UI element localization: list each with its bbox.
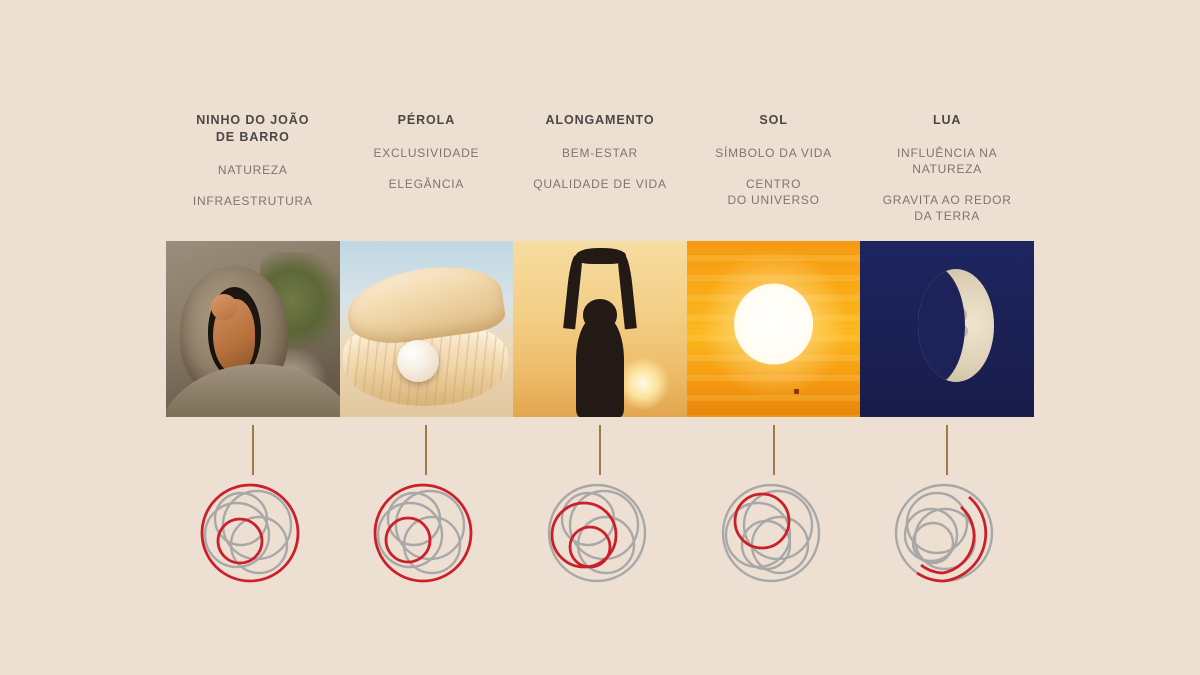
column-attribute: SÍMBOLO DA VIDA	[691, 145, 857, 161]
column-title: PÉROLA	[344, 112, 510, 129]
connector-line	[425, 425, 427, 475]
column-title: ALONGAMENTO	[517, 112, 683, 129]
logo-mark-sol	[714, 477, 834, 595]
concept-board: NINHO DO JOÃO DE BARRO NATUREZA INFRAEST…	[166, 0, 1034, 675]
column-attribute: BEM-ESTAR	[517, 145, 683, 161]
column-attribute: NATUREZA	[170, 162, 336, 178]
column-attribute: EXCLUSIVIDADE	[344, 145, 510, 161]
connector-cell	[860, 425, 1034, 477]
concept-column-alongamento: ALONGAMENTO BEM-ESTAR QUALIDADE DE VIDA	[513, 112, 687, 237]
logo-cell-alongamento	[513, 477, 687, 597]
bird-nest-image	[166, 241, 340, 417]
concept-column-lua: LUA INFLUÊNCIA NA NATUREZA GRAVITA AO RE…	[860, 112, 1034, 237]
logo-cell-ninho	[166, 477, 340, 597]
connector-cell	[513, 425, 687, 477]
concept-column-perola: PÉROLA EXCLUSIVIDADE ELEGÂNCIA	[340, 112, 514, 237]
connector-cell	[687, 425, 861, 477]
column-attribute: QUALIDADE DE VIDA	[517, 176, 683, 192]
logo-mark-alongamento	[540, 477, 660, 595]
column-attribute: GRAVITA AO REDOR DA TERRA	[864, 192, 1030, 224]
column-attribute: CENTRO DO UNIVERSO	[691, 176, 857, 208]
logo-cell-perola	[340, 477, 514, 597]
stretching-silhouette-image	[513, 241, 687, 417]
connector-line	[599, 425, 601, 475]
column-attribute: INFRAESTRUTURA	[170, 193, 336, 209]
connector-cell	[340, 425, 514, 477]
concept-column-ninho: NINHO DO JOÃO DE BARRO NATUREZA INFRAEST…	[166, 112, 340, 237]
column-title: NINHO DO JOÃO DE BARRO	[170, 112, 336, 146]
column-attribute: ELEGÂNCIA	[344, 176, 510, 192]
crescent-moon-image	[860, 241, 1034, 417]
column-title: SOL	[691, 112, 857, 129]
connector-cell	[166, 425, 340, 477]
concept-text-row: NINHO DO JOÃO DE BARRO NATUREZA INFRAEST…	[166, 112, 1034, 237]
column-title: LUA	[864, 112, 1030, 129]
connector-line	[946, 425, 948, 475]
logo-mark-row	[166, 477, 1034, 597]
concept-column-sol: SOL SÍMBOLO DA VIDA CENTRO DO UNIVERSO	[687, 112, 861, 237]
connector-line	[773, 425, 775, 475]
logo-cell-sol	[687, 477, 861, 597]
logo-cell-lua	[860, 477, 1034, 597]
connector-line	[252, 425, 254, 475]
logo-mark-perola	[366, 477, 486, 595]
connector-row	[166, 425, 1034, 477]
column-attribute: INFLUÊNCIA NA NATUREZA	[864, 145, 1030, 177]
concept-image-strip	[166, 241, 1034, 417]
logo-mark-ninho	[193, 477, 313, 595]
logo-mark-lua	[887, 477, 1007, 595]
pearl-shell-image	[340, 241, 514, 417]
sun-image	[687, 241, 861, 417]
